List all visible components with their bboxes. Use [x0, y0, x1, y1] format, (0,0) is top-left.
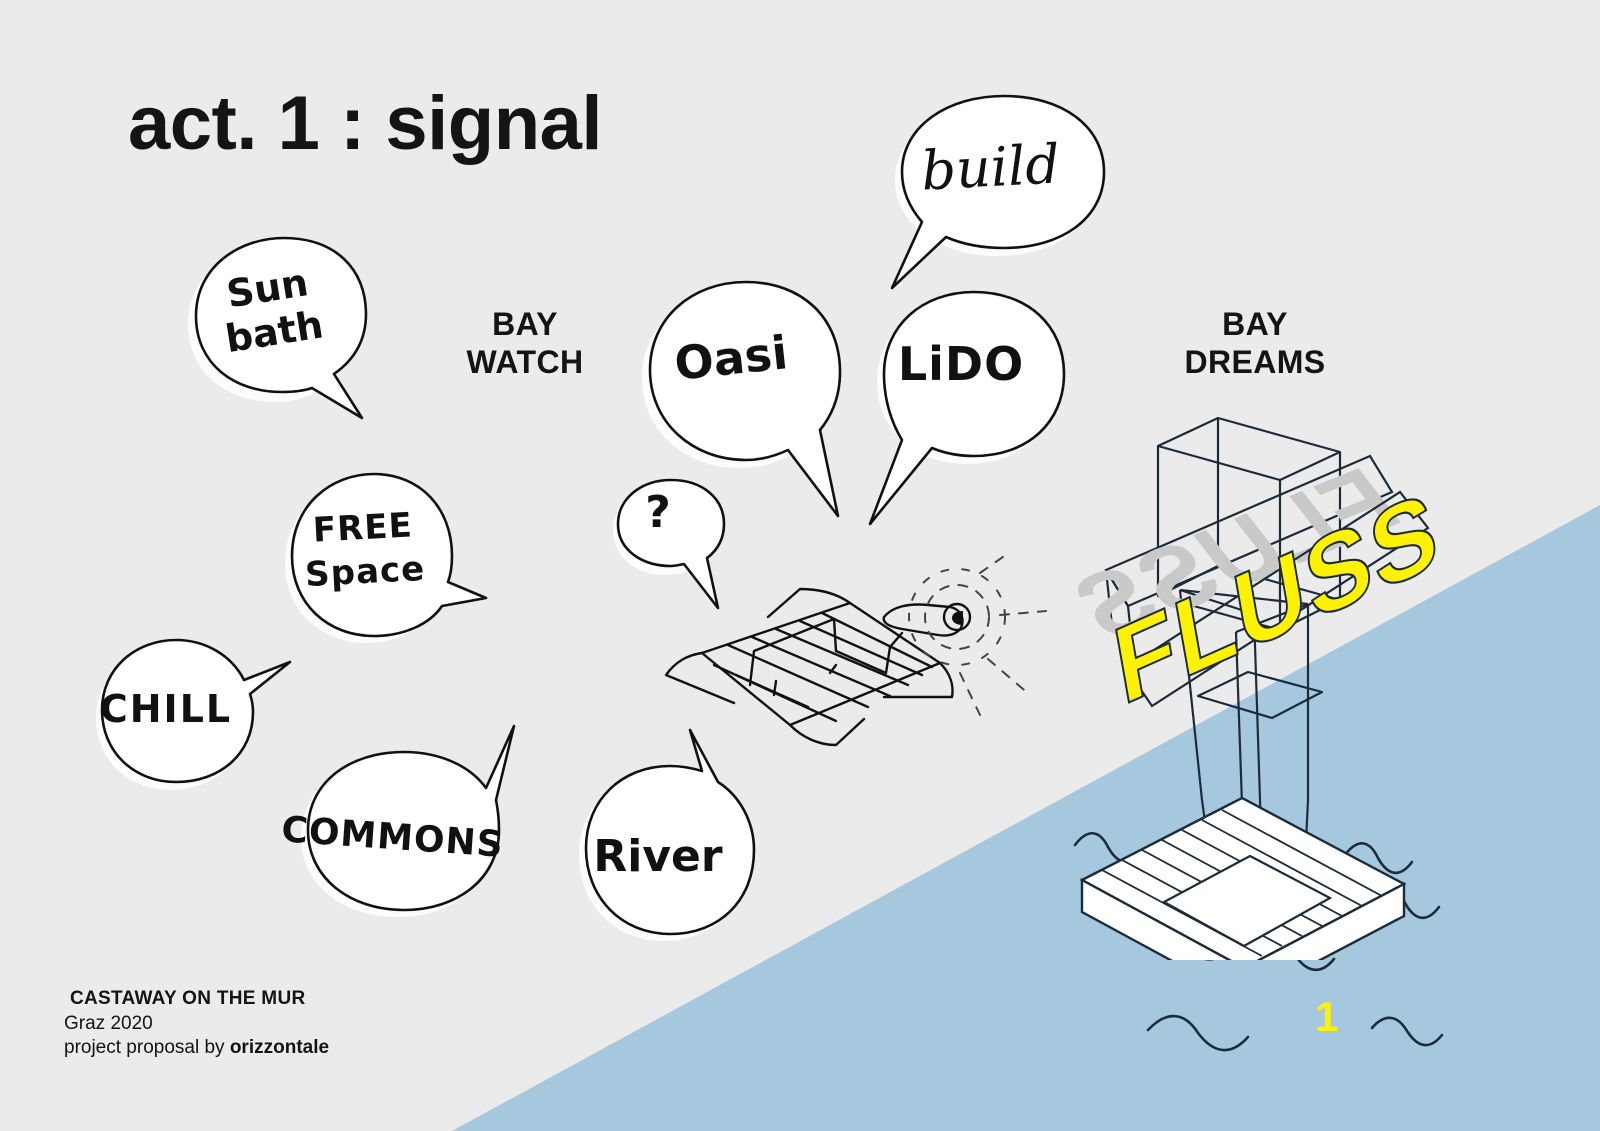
- speech-bubble-free-space[interactable]: FREE Space: [284, 470, 454, 635]
- speech-bubble-commons[interactable]: COMMONS: [300, 722, 500, 882]
- footer-credit: project proposal by orizzontale: [64, 1037, 329, 1059]
- raft-deck: [702, 603, 940, 725]
- speech-bubble-chill[interactable]: CHILL: [94, 636, 259, 766]
- footer-credit-author: orizzontale: [230, 1037, 329, 1058]
- bubble-outline: [292, 474, 486, 636]
- speech-bubble-oasi[interactable]: Oasi: [642, 278, 832, 448]
- bubble-outline: [102, 640, 290, 782]
- bubble-outline: [308, 726, 514, 910]
- bubble-outline: [196, 238, 366, 418]
- bubble-outline: [892, 96, 1104, 288]
- raft-platform: [1082, 798, 1404, 960]
- beacon-rays: [909, 555, 1046, 715]
- bubble-outline: [870, 292, 1064, 524]
- caption-bay-watch: BAY WATCH: [400, 306, 650, 382]
- sketch-raft-beacon: [650, 555, 1050, 775]
- page-number: 1: [1315, 996, 1338, 1038]
- raft-flap-left: [666, 653, 734, 703]
- raft-flap-top: [768, 589, 850, 617]
- footer-project-title: CASTAWAY ON THE MUR: [70, 988, 329, 1010]
- speech-bubble-sun-bath[interactable]: Sun bath: [186, 236, 366, 396]
- beacon-lens-inner: [952, 611, 963, 625]
- footer: CASTAWAY ON THE MUR Graz 2020 project pr…: [64, 988, 329, 1059]
- beacon-lamp: [884, 605, 963, 636]
- speech-bubble-lido[interactable]: LiDO: [866, 288, 1056, 453]
- presentation-board: act. 1 : signal BAY WATCH BAY DREAMS Sun…: [0, 0, 1600, 1131]
- fluss-sign-structure: FLUSS FLUSS: [1040, 400, 1460, 960]
- footer-place-year: Graz 2020: [64, 1013, 329, 1035]
- raft-flap-bottom: [790, 719, 864, 745]
- page-title: act. 1 : signal: [128, 86, 602, 162]
- speech-bubble-build[interactable]: build: [888, 92, 1103, 252]
- caption-bay-dreams: BAY DREAMS: [1110, 306, 1400, 382]
- footer-credit-prefix: project proposal by: [64, 1037, 230, 1058]
